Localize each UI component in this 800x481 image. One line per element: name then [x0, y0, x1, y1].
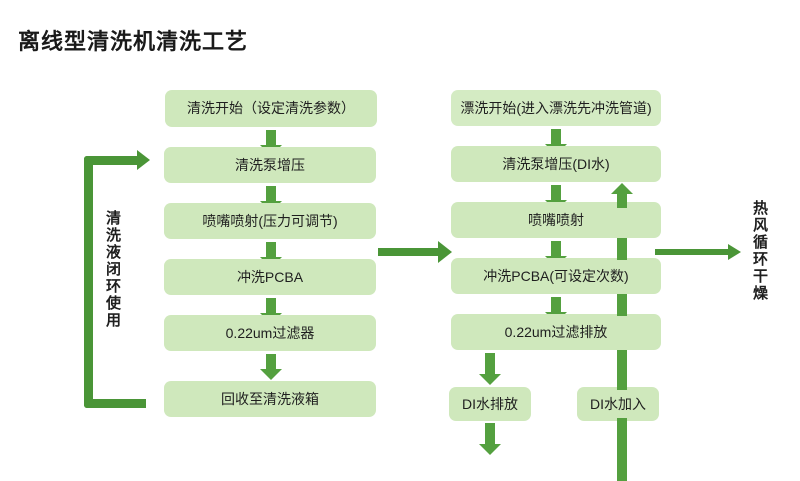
di-supply-riser-seg-c	[617, 294, 627, 316]
arrow-di-supply-into-pump	[611, 183, 633, 207]
closed-loop-bottom-stub	[136, 399, 146, 408]
node-di-supply[interactable]: DI水加入	[577, 387, 659, 421]
page-title: 离线型清洗机清洗工艺	[18, 24, 248, 56]
di-supply-riser-bottom	[617, 440, 627, 481]
node-wash-nozzle[interactable]: 喷嘴喷射(压力可调节)	[164, 203, 376, 239]
di-supply-riser-seg-d	[617, 238, 627, 260]
flowchart-canvas: 离线型清洗机清洗工艺 清洗开始（设定清洗参数） 清洗泵增压 喷嘴喷射(压力可调节…	[0, 0, 800, 481]
di-supply-riser-seg-b	[617, 350, 627, 390]
arrow-wash-filter-to-recycle	[260, 354, 282, 380]
node-rinse-pump[interactable]: 清洗泵增压(DI水)	[451, 146, 661, 182]
closed-loop-arrowhead	[137, 150, 150, 170]
arrow-di-drain-out	[479, 423, 501, 459]
hot-air-drying-label: 热风循环干燥	[752, 200, 767, 302]
node-wash-pcba[interactable]: 冲洗PCBA	[164, 259, 376, 295]
node-di-drain[interactable]: DI水排放	[449, 387, 531, 421]
node-rinse-pcba[interactable]: 冲洗PCBA(可设定次数)	[451, 258, 661, 294]
node-wash-filter[interactable]: 0.22um过滤器	[164, 315, 376, 351]
node-wash-recycle[interactable]: 回收至清洗液箱	[164, 381, 376, 417]
node-wash-pump[interactable]: 清洗泵增压	[164, 147, 376, 183]
node-wash-start[interactable]: 清洗开始（设定清洗参数）	[165, 90, 377, 127]
arrow-wash-to-rinse	[378, 241, 452, 263]
arrow-filter-to-di-drain	[479, 353, 501, 387]
node-rinse-filter[interactable]: 0.22um过滤排放	[451, 314, 661, 350]
node-rinse-start[interactable]: 漂洗开始(进入漂洗先冲洗管道)	[451, 90, 661, 126]
closed-loop-label: 清洗液闭环使用	[105, 210, 120, 329]
arrow-to-hot-air-drying	[655, 244, 741, 260]
di-supply-riser-seg-a	[617, 418, 627, 440]
node-rinse-nozzle[interactable]: 喷嘴喷射	[451, 202, 661, 238]
